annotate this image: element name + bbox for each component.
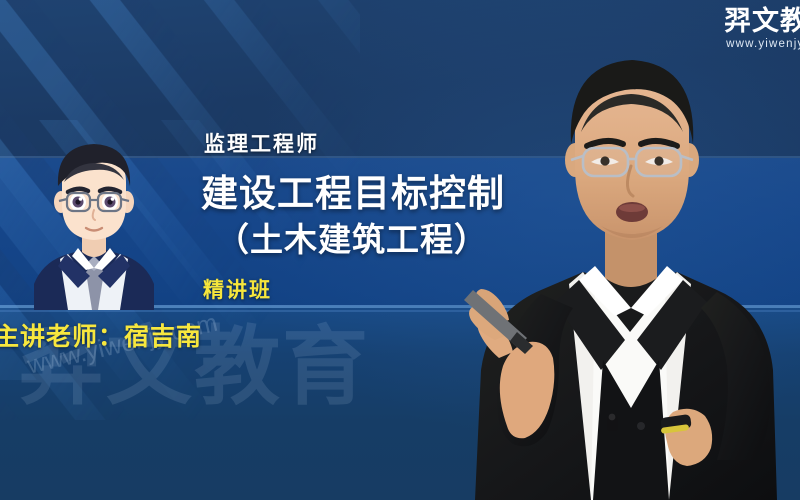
- slide-teacher-line: 主讲老师：宿吉南: [0, 317, 202, 353]
- slide-subject: 监理工程师: [204, 128, 319, 158]
- background-band-top: [0, 0, 800, 158]
- divider-line-lower: [0, 305, 800, 308]
- divider-line-upper: [0, 156, 800, 158]
- slide-course-type: 精讲班: [203, 274, 272, 304]
- slide-title-main: 建设工程目标控制: [201, 163, 505, 217]
- video-frame: 羿文教育 www.yiwenjy.com: [0, 0, 800, 500]
- divider-line-lower-secondary: [0, 310, 800, 312]
- slide-title-sub: （土木建筑工程）: [216, 213, 488, 261]
